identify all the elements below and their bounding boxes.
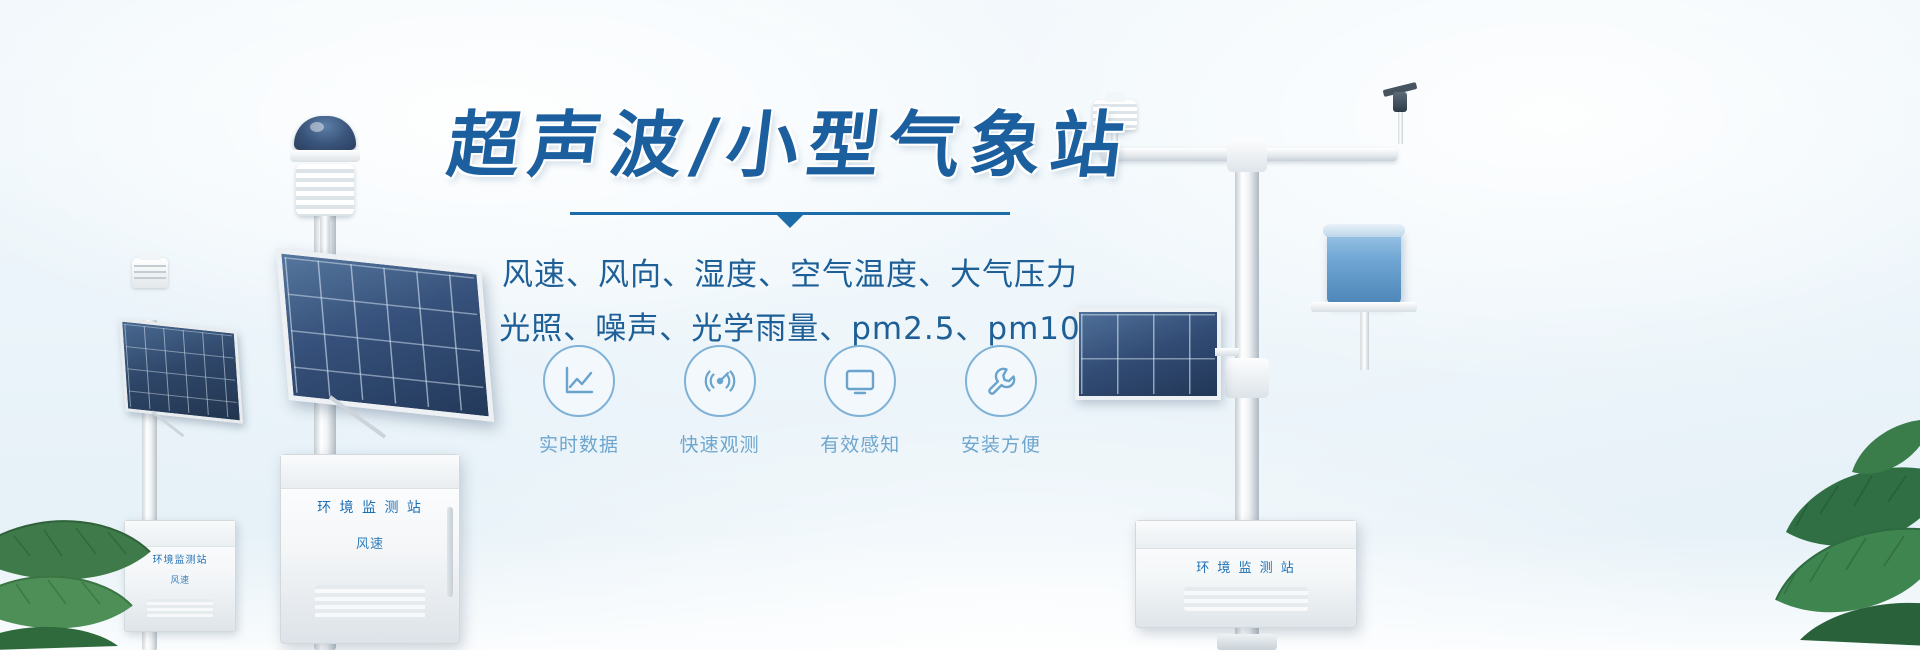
station-right-gauge-stem — [1360, 312, 1369, 370]
chart-line-icon — [543, 345, 615, 417]
station-center-cabinet-label: 环 境 监 测 站 — [281, 497, 459, 517]
station-center-sky-dome-icon — [294, 116, 356, 150]
banner-copy-block: 超声波/小型气象站 风速、风向、湿度、空气温度、大气压力 光照、噪声、光学雨量、… — [440, 104, 1140, 355]
station-center-vent — [315, 585, 425, 619]
station-right-vent — [1184, 587, 1308, 611]
subtitle-line-1: 风速、风向、湿度、空气温度、大气压力 — [440, 250, 1140, 300]
station-right-rain-gauge-icon — [1327, 230, 1401, 304]
station-right-wind-vane-icon — [1387, 84, 1413, 118]
feature-item-effective-sensing[interactable]: 有效感知 — [801, 345, 919, 457]
divider-caret-icon — [777, 215, 803, 228]
station-right-panel-stem — [1215, 348, 1239, 356]
leaf-decoration-right — [1620, 350, 1920, 650]
station-right-cabinet-label: 环 境 监 测 站 — [1136, 557, 1356, 576]
station-center-collar — [290, 150, 360, 162]
station-right-gauge-shelf — [1311, 302, 1417, 312]
station-center-radiation-shield — [296, 164, 354, 216]
feature-list: 实时数据 快速观测 有效感知 — [520, 345, 1060, 457]
feature-label: 快速观测 — [680, 430, 760, 457]
wrench-icon — [965, 345, 1037, 417]
station-right-cabinet: 环 境 监 测 站 — [1135, 520, 1357, 628]
page-title: 超声波/小型气象站 — [435, 104, 1145, 186]
station-right-base — [1217, 634, 1277, 650]
feature-label: 有效感知 — [820, 430, 900, 457]
leaf-decoration-left — [0, 390, 240, 650]
feature-label: 实时数据 — [539, 430, 619, 457]
product-banner: 环境监测站 风速 环 境 监 测 站 风速 — [0, 0, 1920, 650]
station-right-lower-joint — [1225, 358, 1269, 398]
station-left-radiation-shield-icon — [132, 258, 168, 288]
feature-label: 安装方便 — [961, 430, 1041, 457]
feature-item-easy-installation[interactable]: 安装方便 — [942, 345, 1060, 457]
radar-signal-icon — [684, 345, 756, 417]
station-center-cabinet: 环 境 监 测 站 风速 — [280, 454, 460, 644]
station-center-brand-label: 风速 — [281, 533, 459, 552]
feature-item-quick-observation[interactable]: 快速观测 — [661, 345, 779, 457]
station-right-arm-joint — [1227, 138, 1267, 172]
feature-item-realtime-data[interactable]: 实时数据 — [520, 345, 638, 457]
monitor-screen-icon — [824, 345, 896, 417]
title-divider — [570, 212, 1010, 228]
